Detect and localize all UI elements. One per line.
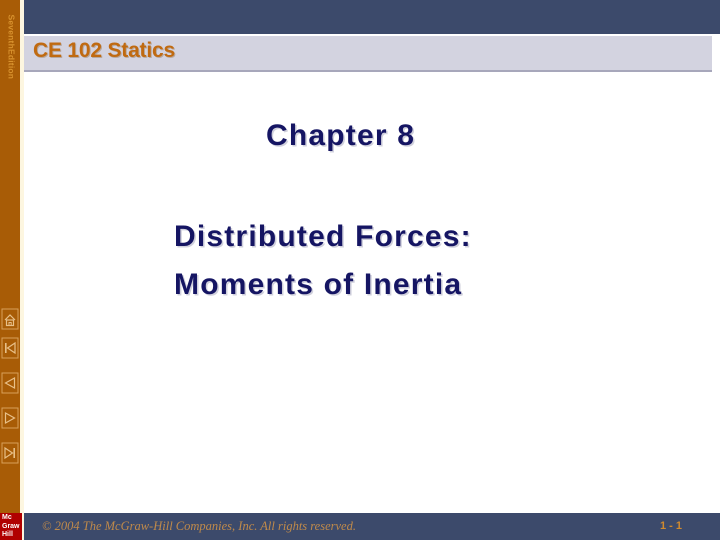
mcgraw-hill-logo: Mc Graw Hill bbox=[0, 513, 22, 540]
next-slide-icon bbox=[1, 407, 19, 429]
edition-label-line2: Edition bbox=[7, 49, 17, 79]
logo-line-3: Hill bbox=[2, 531, 22, 540]
nav-previous-button[interactable] bbox=[1, 372, 19, 394]
chapter-heading: Chapter 8 bbox=[266, 119, 415, 153]
first-slide-icon bbox=[1, 337, 19, 359]
presentation-slide: Vector Mechanics for Engineers: Statics … bbox=[0, 0, 720, 540]
slide-content-area: Chapter 8 Distributed Forces: Moments of… bbox=[24, 72, 720, 513]
slide-page-number: 1 - 1 bbox=[660, 520, 682, 532]
sidebar-stripe bbox=[20, 0, 24, 540]
nav-first-button[interactable] bbox=[1, 337, 19, 359]
home-icon bbox=[1, 308, 19, 330]
logo-line-1: Mc bbox=[2, 514, 22, 523]
logo-line-2: Graw bbox=[2, 523, 22, 532]
course-subtitle: CE 102 Statics bbox=[33, 39, 175, 63]
edition-label-line1: Seventh bbox=[7, 15, 17, 49]
nav-last-button[interactable] bbox=[1, 442, 19, 464]
copyright-notice: © 2004 The McGraw-Hill Companies, Inc. A… bbox=[42, 519, 356, 534]
previous-slide-icon bbox=[1, 372, 19, 394]
slide-subtitle-bar: CE 102 Statics bbox=[24, 36, 712, 72]
edition-label: SeventhEdition bbox=[7, 15, 16, 71]
nav-next-button[interactable] bbox=[1, 407, 19, 429]
last-slide-icon bbox=[1, 442, 19, 464]
topic-line-1: Distributed Forces: bbox=[174, 220, 472, 254]
nav-home-button[interactable] bbox=[1, 308, 19, 330]
slide-title-bar bbox=[0, 0, 720, 34]
topic-line-2: Moments of Inertia bbox=[174, 268, 462, 302]
